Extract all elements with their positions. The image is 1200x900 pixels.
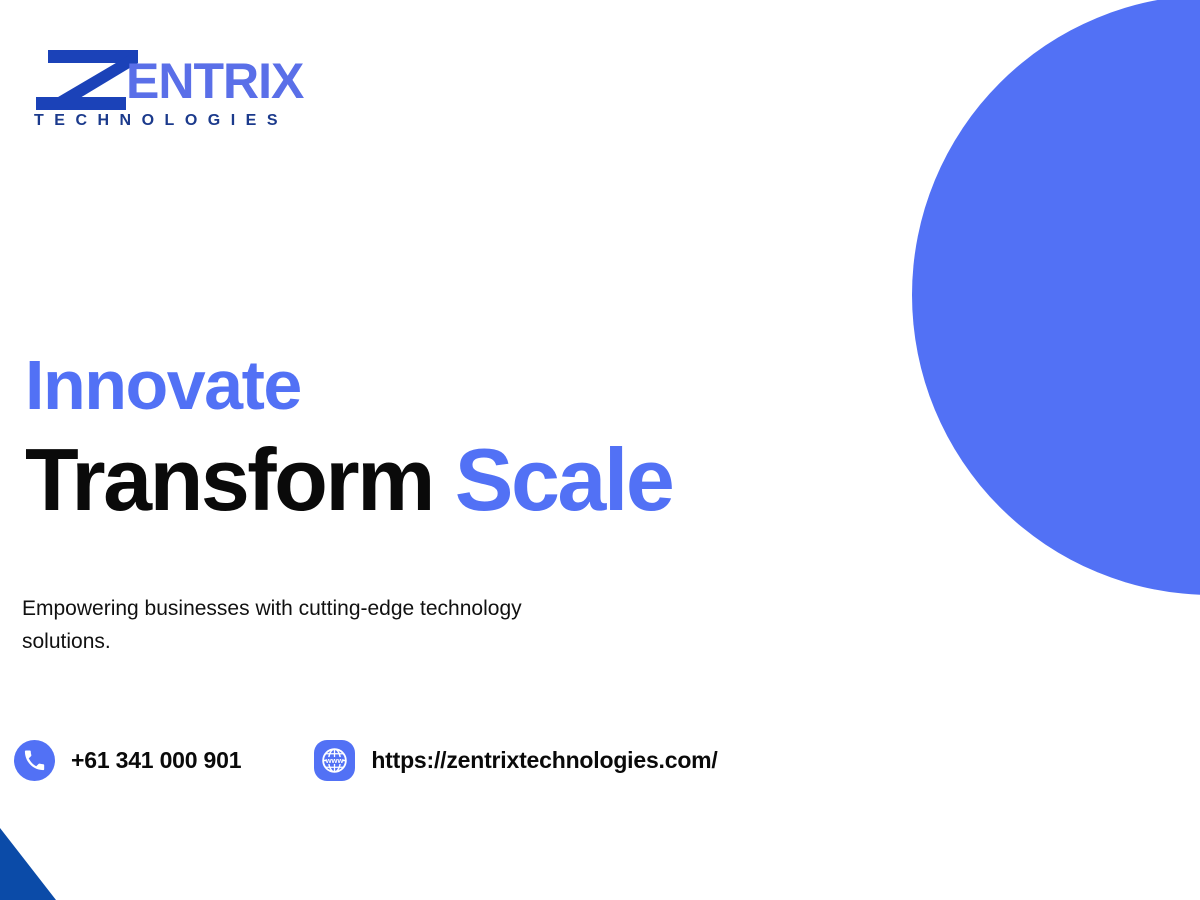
headline-line-1: Innovate <box>25 348 905 422</box>
logo-subtitle: TECHNOLOGIES <box>34 112 334 130</box>
contact-website[interactable]: www https://zentrixtechnologies.com/ <box>314 740 717 781</box>
globe-www-label: www <box>325 756 344 765</box>
company-logo[interactable]: ENTRIX TECHNOLOGIES <box>34 48 334 130</box>
phone-icon <box>14 740 55 781</box>
contact-phone[interactable]: +61 341 000 901 <box>14 740 241 781</box>
headline-line-2: Transform Scale <box>25 434 905 526</box>
headline-word-transform: Transform <box>25 430 433 529</box>
globe-glyph: www <box>320 746 349 775</box>
phone-number-text: +61 341 000 901 <box>71 747 241 774</box>
bottom-left-triangle-decoration <box>0 828 56 900</box>
logo-wordmark: ENTRIX <box>126 56 303 106</box>
subtitle-text: Empowering businesses with cutting-edge … <box>22 592 582 658</box>
logo-mark: ENTRIX <box>34 48 334 110</box>
logo-z-icon <box>34 50 138 110</box>
globe-icon: www <box>314 740 355 781</box>
promotional-banner: ENTRIX TECHNOLOGIES Innovate Transform S… <box>0 0 1200 900</box>
large-blue-circle-decoration <box>912 0 1200 595</box>
contact-row: +61 341 000 901 www https://zentrixtechn… <box>14 740 718 781</box>
headline-block: Innovate Transform Scale <box>25 348 905 526</box>
website-url-text: https://zentrixtechnologies.com/ <box>371 747 717 774</box>
headline-word-scale: Scale <box>455 430 672 529</box>
